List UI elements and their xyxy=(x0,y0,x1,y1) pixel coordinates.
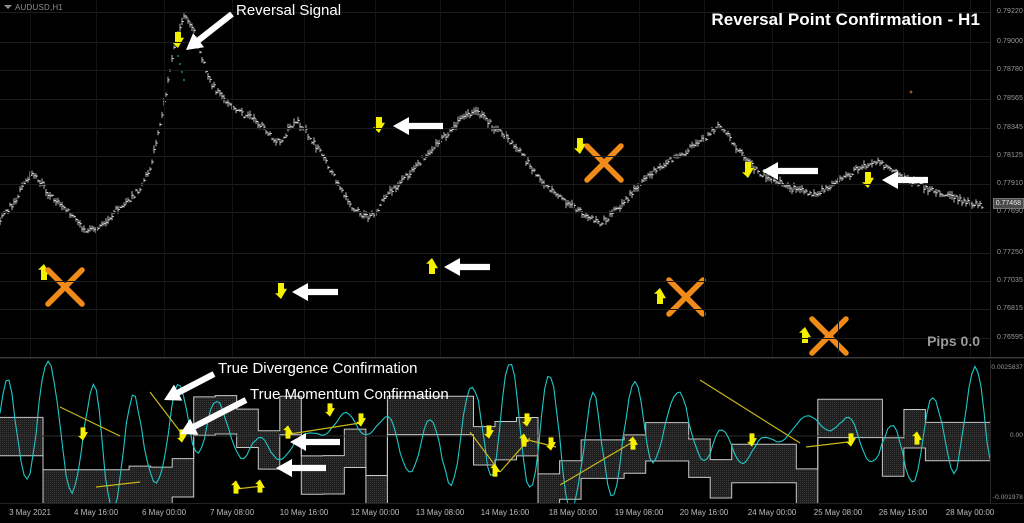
confirmation-band-cell xyxy=(495,422,517,460)
current-price-tag: 0.77468 xyxy=(993,198,1024,209)
confirmation-band-cell xyxy=(86,470,108,503)
gridline xyxy=(573,0,574,358)
time-axis-label: 13 May 08:00 xyxy=(416,508,464,517)
gridline xyxy=(772,0,773,358)
indicator-gridlines xyxy=(0,360,990,503)
sell-signal-arrow xyxy=(275,283,287,299)
confirmation-band-cell xyxy=(108,470,130,503)
confirmation-band-cell xyxy=(301,456,323,494)
price-chart-panel[interactable] xyxy=(0,0,990,358)
confirmation-band-cell xyxy=(43,470,65,503)
indicator-sell-arrow xyxy=(846,433,856,446)
time-axis-label: 3 May 2021 xyxy=(9,508,51,517)
gridline xyxy=(440,0,441,358)
gridline xyxy=(0,338,990,339)
divergence-segment xyxy=(700,380,800,443)
confirmation-band-cell xyxy=(538,474,560,503)
gridline xyxy=(96,0,97,358)
confirmation-band-cell xyxy=(323,456,345,494)
buy-signal-arrow xyxy=(799,327,811,343)
confirmation-band-cell xyxy=(882,438,904,476)
price-series-bars xyxy=(0,0,990,358)
indicator-sell-arrow xyxy=(356,413,366,426)
confirmation-band-cell xyxy=(581,440,603,478)
dropdown-triangle-icon xyxy=(4,5,12,9)
price-axis-label: 0.79000 xyxy=(997,38,1023,45)
time-axis-label: 6 May 00:00 xyxy=(142,508,186,517)
confirmation-band-cell xyxy=(344,429,366,467)
gridline xyxy=(0,99,990,100)
price-axis-label: 0.76595 xyxy=(997,334,1023,341)
price-signal-markers xyxy=(0,0,990,358)
gridline xyxy=(375,0,376,358)
gridline xyxy=(232,0,233,358)
gridline xyxy=(30,0,31,358)
confirmation-band-cell xyxy=(129,466,151,503)
confirmation-band-cell xyxy=(215,396,237,434)
confirmation-band-cell xyxy=(796,469,818,503)
confirmation-band-cell xyxy=(904,410,926,448)
indicator-sell-arrow xyxy=(522,413,532,426)
divergence-segment xyxy=(560,440,636,485)
invalid-signal-mark xyxy=(48,270,82,304)
indicator-axis-label: -0.001978 xyxy=(993,494,1023,501)
gridline xyxy=(0,253,990,254)
price-axis-label: 0.79220 xyxy=(997,8,1023,15)
confirmation-band-cell xyxy=(560,461,582,499)
gridline xyxy=(164,0,165,358)
confirmation-band-cell xyxy=(0,417,22,455)
indicator-sell-arrow xyxy=(546,437,556,450)
price-axis[interactable]: 0.792200.790000.787800.785650.783450.781… xyxy=(990,0,1024,358)
indicator-buy-arrow xyxy=(628,436,638,449)
confirmation-band-cell xyxy=(710,460,732,498)
time-axis-label: 4 May 16:00 xyxy=(74,508,118,517)
gridline xyxy=(0,128,990,129)
confirmation-band-cell xyxy=(646,423,668,461)
sell-signal-arrow xyxy=(574,138,586,154)
divergence-segment xyxy=(96,482,140,487)
price-gridlines xyxy=(0,0,990,358)
divergence-segment xyxy=(470,432,500,472)
indicator-buy-arrow xyxy=(231,480,241,493)
gridline xyxy=(704,0,705,358)
confirmation-band-cell xyxy=(818,399,840,437)
indicator-sell-arrow xyxy=(78,427,88,440)
indicator-buy-arrow xyxy=(255,479,265,492)
confirmation-band-cell xyxy=(452,396,474,434)
price-axis-label: 0.78565 xyxy=(997,95,1023,102)
confirmation-band-cell xyxy=(667,423,689,461)
confirmation-band-cell xyxy=(947,422,969,460)
confirmation-band-cell xyxy=(839,399,861,437)
buy-signal-arrow xyxy=(426,258,438,274)
reversal-signal-callout: Reversal Signal xyxy=(236,2,341,19)
confirmation-band-cell xyxy=(689,439,711,477)
symbol-label[interactable]: AUDUSD,H1 xyxy=(4,3,63,12)
buy-signal-arrow xyxy=(654,288,666,304)
gridline xyxy=(0,309,990,310)
band-lower-line xyxy=(0,434,990,503)
time-axis-label: 19 May 08:00 xyxy=(615,508,663,517)
time-axis-label: 25 May 08:00 xyxy=(814,508,862,517)
confirmation-band-cell xyxy=(925,422,947,460)
divergence-segment xyxy=(60,407,120,436)
confirmation-band-cell xyxy=(603,440,625,478)
divergence-segment xyxy=(150,392,185,438)
indicator-panel[interactable] xyxy=(0,360,990,503)
gridline xyxy=(639,0,640,358)
sell-signal-arrow xyxy=(172,32,184,48)
divergence-segment xyxy=(528,440,556,447)
indicator-axis-label: 0.0025837 xyxy=(991,364,1023,371)
price-axis-label: 0.77910 xyxy=(997,180,1023,187)
buy-signal-arrow xyxy=(38,264,50,280)
time-axis-label: 26 May 16:00 xyxy=(879,508,927,517)
price-axis-label: 0.76815 xyxy=(997,305,1023,312)
gridline xyxy=(505,0,506,358)
price-axis-label: 0.77250 xyxy=(997,249,1023,256)
price-axis-label: 0.78780 xyxy=(997,66,1023,73)
confirmation-band-cell xyxy=(172,459,194,497)
confirmation-band-cell xyxy=(861,399,883,437)
panel-divider-shadow xyxy=(0,358,1024,359)
indicator-axis-label: 0.00 xyxy=(1010,432,1023,439)
confirmation-band-cell xyxy=(969,422,991,460)
gridline xyxy=(970,0,971,358)
gridline xyxy=(0,42,990,43)
true-momentum-callout: True Momentum Confirmation xyxy=(250,386,449,403)
gridline xyxy=(0,212,990,213)
indicator-sell-arrow xyxy=(177,429,187,442)
time-axis-label: 10 May 16:00 xyxy=(280,508,328,517)
time-axis-label: 20 May 16:00 xyxy=(680,508,728,517)
indicator-buy-arrow xyxy=(490,463,500,476)
indicator-buy-arrow xyxy=(283,425,293,438)
band-upper-line xyxy=(0,396,990,476)
gridline xyxy=(838,0,839,358)
time-axis-label: 7 May 08:00 xyxy=(210,508,254,517)
oscillator-line xyxy=(0,361,990,503)
indicator-sell-arrow xyxy=(325,403,335,416)
gridline xyxy=(0,281,990,282)
time-axis[interactable]: 3 May 20214 May 16:006 May 00:007 May 08… xyxy=(0,503,1024,523)
time-axis-label: 18 May 00:00 xyxy=(549,508,597,517)
invalid-signal-mark xyxy=(812,319,846,353)
indicator-buy-arrow xyxy=(519,433,529,446)
confirmation-band-cell xyxy=(237,409,259,447)
time-axis-label: 12 May 00:00 xyxy=(351,508,399,517)
gridline xyxy=(903,0,904,358)
confirmation-band-cell xyxy=(194,397,216,435)
indicator-signal-markers xyxy=(0,360,990,503)
time-axis-label: 28 May 00:00 xyxy=(946,508,994,517)
confirmation-band-cell xyxy=(258,431,280,469)
price-axis-label: 0.77690 xyxy=(997,208,1023,215)
confirmation-band-cell xyxy=(624,435,646,473)
indicator-sell-arrow xyxy=(484,425,494,438)
divergence-segment xyxy=(290,423,360,434)
confirmation-band-cell xyxy=(22,417,44,455)
gridline xyxy=(304,0,305,358)
true-divergence-callout: True Divergence Confirmation xyxy=(218,360,418,377)
indicator-axis[interactable]: 0.00258370.00-0.001978 xyxy=(990,360,1024,503)
confirmation-band-cell xyxy=(151,467,173,503)
divergence-segment xyxy=(236,486,263,489)
confirmation-band-cell xyxy=(366,476,388,504)
divergence-segment xyxy=(806,442,848,447)
gridline xyxy=(0,70,990,71)
confirmation-band-cell xyxy=(474,427,496,465)
confirmation-band-cell xyxy=(753,444,775,482)
invalid-signal-mark xyxy=(587,146,621,180)
gridline xyxy=(0,184,990,185)
indicator-sell-arrow xyxy=(747,433,757,446)
sell-signal-arrow xyxy=(742,162,754,178)
confirmation-band-cell xyxy=(65,470,87,503)
confirmation-band-cell xyxy=(517,418,539,456)
indicator-buy-arrow xyxy=(912,431,922,444)
sell-signal-arrow xyxy=(862,172,874,188)
time-axis-label: 14 May 16:00 xyxy=(481,508,529,517)
price-axis-label: 0.78125 xyxy=(997,152,1023,159)
indicator-series xyxy=(0,360,990,503)
confirmation-band-cell xyxy=(732,444,754,482)
symbol-label-text: AUDUSD,H1 xyxy=(15,3,63,12)
trading-chart-screenshot: AUDUSD,H1 Reversal Point Confirmation - … xyxy=(0,0,1024,522)
price-axis-label: 0.77035 xyxy=(997,277,1023,284)
confirmation-band-cell xyxy=(775,444,797,482)
page-title: Reversal Point Confirmation - H1 xyxy=(711,10,980,30)
divergence-segment xyxy=(500,438,530,472)
pips-readout: Pips 0.0 xyxy=(927,333,980,349)
time-axis-label: 24 May 00:00 xyxy=(748,508,796,517)
gridline xyxy=(0,156,990,157)
price-axis-label: 0.78345 xyxy=(997,124,1023,131)
